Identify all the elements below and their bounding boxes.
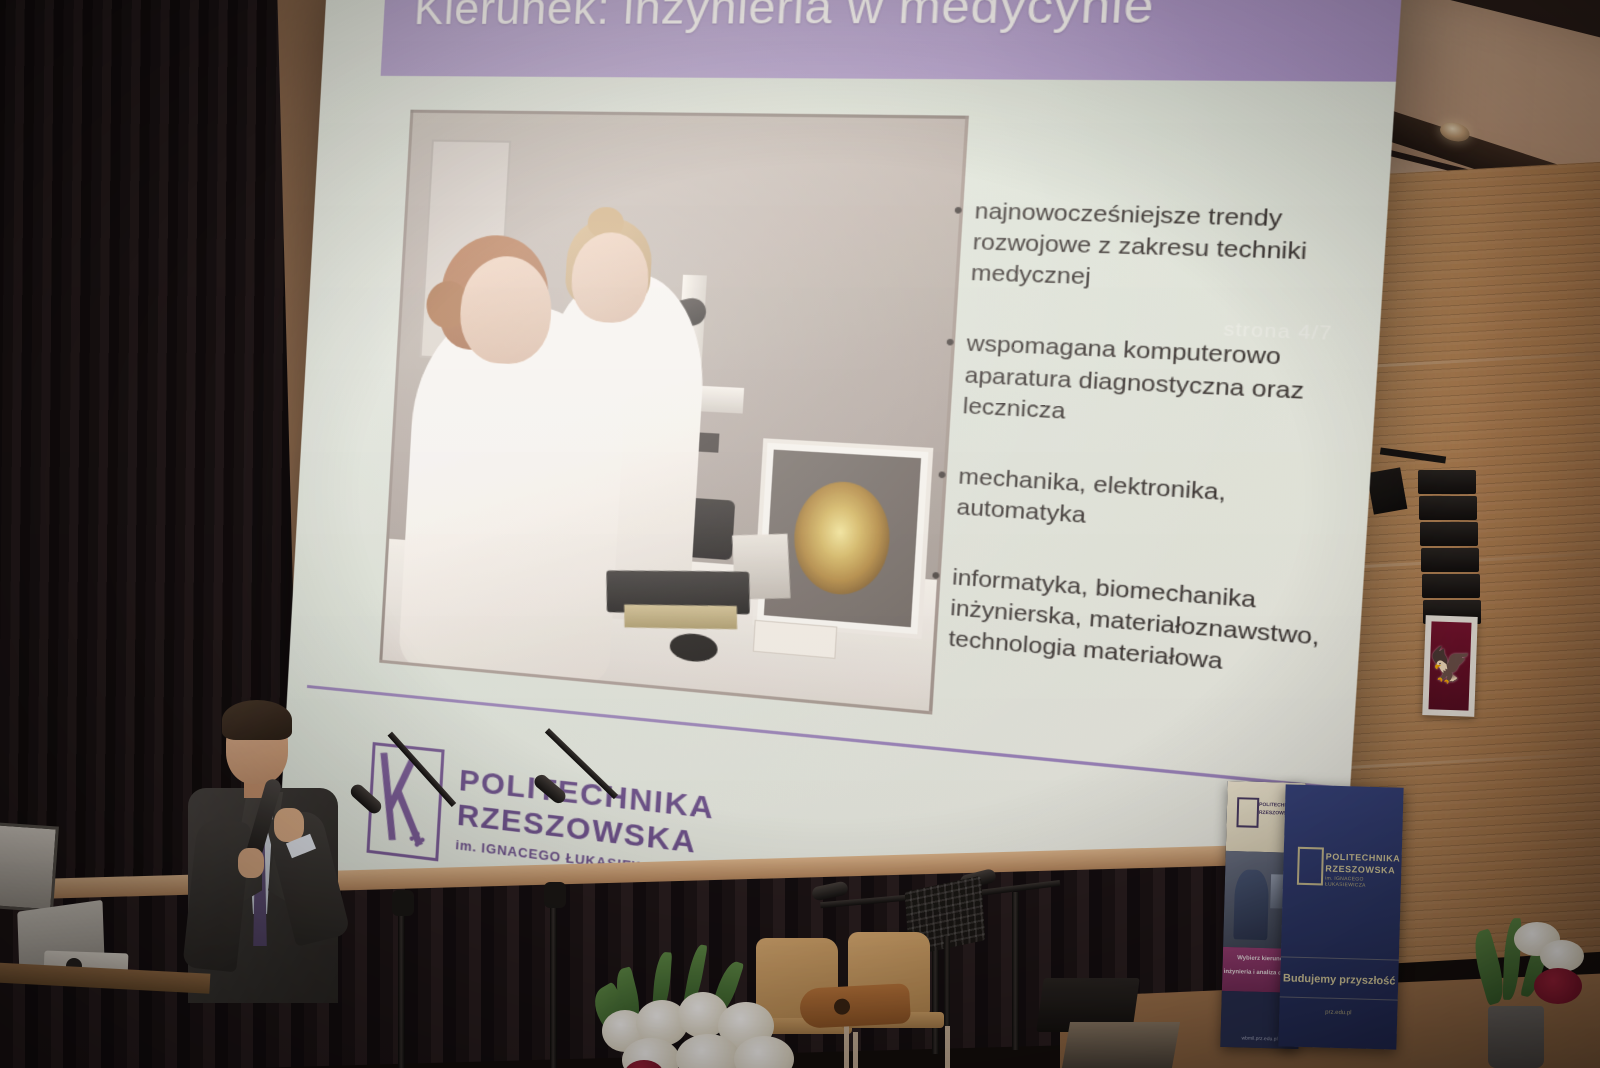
banner-navy-url: prz.edu.pl xyxy=(1279,1008,1397,1017)
list-item: • informatyka, biomechanika inżynierska,… xyxy=(927,561,1363,690)
flower-bouquet xyxy=(596,958,836,1068)
vase xyxy=(1488,1006,1544,1068)
preview-monitor xyxy=(0,822,59,913)
bullet-text: mechanika, elektronika, automatyka xyxy=(956,461,1370,550)
bullet-text: najnowocześniejsze trendy rozwojowe z za… xyxy=(970,196,1388,303)
stage-monitor-wedge xyxy=(1062,1022,1180,1068)
banner-logo-icon xyxy=(1297,847,1324,886)
speaker-small xyxy=(1367,467,1408,514)
list-item: • wspomagana komputerowo aparatura diagn… xyxy=(941,328,1379,443)
presenter xyxy=(176,700,356,1000)
banner-logo-icon xyxy=(1236,797,1259,828)
banner-navy-slogan: Budujemy przyszłość xyxy=(1280,972,1398,987)
rollup-banner-navy: POLITECHNIKA RZESZOWSKA im. IGNACEGO ŁUK… xyxy=(1278,784,1403,1049)
screenshot-root: 🦅 Kierunek: inżynieria w medycynie stron… xyxy=(0,0,1600,1068)
slide-bullet-list: • najnowocześniejsze trendy rozwojowe z … xyxy=(924,196,1388,732)
banner-navy-line-3: im. IGNACEGO ŁUKASIEWICZA xyxy=(1325,876,1401,890)
flower-arrangement-right xyxy=(1470,918,1600,1068)
list-item: • najnowocześniejsze trendy rozwojowe z … xyxy=(949,196,1388,304)
eagle-icon: 🦅 xyxy=(1428,648,1472,683)
presenter-hand xyxy=(238,848,264,878)
microscopy-image xyxy=(791,478,893,597)
bullet-text: informatyka, biomechanika inżynierska, m… xyxy=(948,562,1363,689)
banner-navy-line-2: RZESZOWSKA xyxy=(1325,864,1395,876)
slide-photo xyxy=(379,110,969,715)
banner-navy-line-1: POLITECHNIKA xyxy=(1326,852,1401,864)
polish-eagle-emblem: 🦅 xyxy=(1422,615,1477,717)
line-array-speaker xyxy=(1418,470,1480,620)
slide-title: Kierunek: inżynieria w medycynie xyxy=(413,0,1156,35)
list-item: • mechanika, elektronika, automatyka xyxy=(935,460,1370,550)
bullet-text: wspomagana komputerowo aparatura diagnos… xyxy=(962,329,1379,444)
mic-stand-left xyxy=(352,782,472,1068)
